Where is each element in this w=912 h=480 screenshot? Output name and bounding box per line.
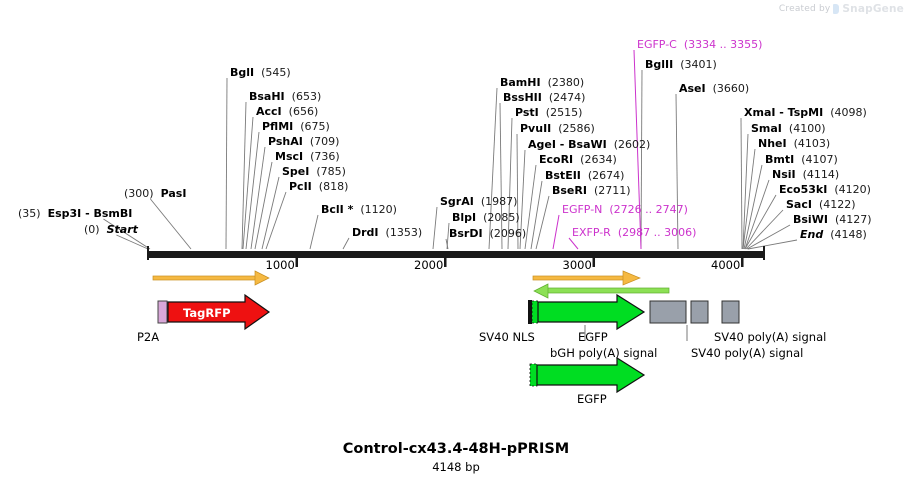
leader-line bbox=[525, 165, 536, 249]
enzyme-name: BmtI bbox=[765, 153, 794, 166]
restriction-site-label: AgeI - BsaWI (2602) bbox=[528, 138, 650, 151]
restriction-site-label: PflMI (675) bbox=[262, 120, 330, 133]
enzyme-name: Esp3I - BsmBI bbox=[48, 207, 133, 220]
site-position: (2474) bbox=[549, 91, 586, 104]
restriction-site-label: XmaI - TspMI (4098) bbox=[744, 106, 867, 119]
primer-range: (2987 .. 3006) bbox=[618, 226, 697, 239]
site-position: (2634) bbox=[580, 153, 617, 166]
enzyme-name: PvuII bbox=[520, 122, 551, 135]
ruler-label: 4000 bbox=[711, 258, 740, 272]
restriction-site-label: AccI (656) bbox=[256, 105, 318, 118]
enzyme-name: SmaI bbox=[751, 122, 782, 135]
site-position: (4148) bbox=[830, 228, 867, 241]
site-position: (656) bbox=[289, 105, 319, 118]
site-position: (2602) bbox=[614, 138, 651, 151]
site-position: (4098) bbox=[830, 106, 867, 119]
site-position: (3660) bbox=[713, 82, 750, 95]
feature-label: EGFP bbox=[578, 330, 608, 344]
restriction-site-label: BsiWI (4127) bbox=[793, 213, 872, 226]
enzyme-name: BamHI bbox=[500, 76, 541, 89]
restriction-site-label: BseRI (2711) bbox=[552, 184, 631, 197]
restriction-site-label: MscI (736) bbox=[275, 150, 340, 163]
restriction-site-label: NsiI (4114) bbox=[772, 168, 839, 181]
leader-line bbox=[150, 199, 191, 249]
enzyme-name: PasI bbox=[161, 187, 187, 200]
restriction-site-label: SmaI (4100) bbox=[751, 122, 825, 135]
enzyme-name: BglI bbox=[230, 66, 254, 79]
leader-lines bbox=[103, 50, 797, 249]
site-position: (2711) bbox=[594, 184, 631, 197]
leader-line bbox=[246, 132, 259, 249]
leader-line bbox=[741, 118, 742, 249]
restriction-site-label: BamHI (2380) bbox=[500, 76, 584, 89]
site-position: (2380) bbox=[548, 76, 585, 89]
restriction-site-label: SacI (4122) bbox=[786, 198, 856, 211]
enzyme-name: End bbox=[800, 228, 823, 241]
enzyme-name: BlpI bbox=[452, 211, 476, 224]
restriction-site-label: PvuII (2586) bbox=[520, 122, 595, 135]
enzyme-name: BsrDI bbox=[449, 227, 483, 240]
restriction-site-label: PcII (818) bbox=[289, 180, 348, 193]
enzyme-name: XmaI - TspMI bbox=[744, 106, 823, 119]
page-subtitle: 4148 bp bbox=[0, 460, 912, 474]
plasmid-map-canvas bbox=[0, 0, 912, 480]
enzyme-name: BsaHI bbox=[249, 90, 285, 103]
enzyme-name: NheI bbox=[758, 137, 787, 150]
restriction-site-label: DrdI (1353) bbox=[352, 226, 422, 239]
ruler-tick bbox=[296, 258, 299, 267]
enzyme-name: AccI bbox=[256, 105, 282, 118]
leader-line bbox=[433, 207, 437, 249]
leader-line bbox=[343, 238, 349, 249]
ruler-label: 2000 bbox=[414, 258, 443, 272]
site-position: (1987) bbox=[481, 195, 518, 208]
restriction-site-label: BmtI (4107) bbox=[765, 153, 838, 166]
enzyme-name: AseI bbox=[679, 82, 706, 95]
site-position: (4120) bbox=[834, 183, 871, 196]
restriction-site-label: AseI (3660) bbox=[679, 82, 749, 95]
enzyme-name: SacI bbox=[786, 198, 812, 211]
feature-sv40-nls bbox=[528, 300, 538, 324]
site-position: (1120) bbox=[360, 203, 397, 216]
site-position: (35) bbox=[18, 207, 41, 220]
restriction-site-label: BclI * (1120) bbox=[321, 203, 397, 216]
restriction-site-label: SgrAI (1987) bbox=[440, 195, 517, 208]
leader-line bbox=[569, 238, 578, 249]
leader-line bbox=[489, 88, 497, 249]
enzyme-name: SgrAI bbox=[440, 195, 474, 208]
primer-label: EGFP-C (3334 .. 3355) bbox=[637, 38, 762, 51]
feature-sv40-polya-2 bbox=[722, 301, 739, 323]
ruler-tick bbox=[741, 258, 744, 267]
primer-label: EGFP-N (2726 .. 2747) bbox=[562, 203, 688, 216]
site-position: (4100) bbox=[789, 122, 826, 135]
feature-label: bGH poly(A) signal bbox=[550, 346, 657, 360]
enzyme-name: BstEII bbox=[545, 169, 581, 182]
enzyme-name: BclI * bbox=[321, 203, 353, 216]
feature-label: P2A bbox=[137, 330, 159, 344]
restriction-site-label: (35) Esp3I - BsmBI bbox=[18, 207, 132, 220]
restriction-site-label: (0) Start bbox=[84, 223, 138, 236]
enzyme-name: PshAI bbox=[268, 135, 303, 148]
leader-line bbox=[641, 70, 642, 249]
restriction-site-label: (300) PasI bbox=[124, 187, 186, 200]
orf-arrow-egfp bbox=[533, 271, 640, 285]
restriction-site-label: NheI (4103) bbox=[758, 137, 830, 150]
feature-label: EGFP bbox=[577, 392, 607, 406]
restriction-site-label: SpeI (785) bbox=[282, 165, 346, 178]
restriction-site-label: BlpI (2085) bbox=[452, 211, 520, 224]
enzyme-name: BsiWI bbox=[793, 213, 828, 226]
site-position: (2085) bbox=[483, 211, 520, 224]
restriction-site-label: BsrDI (2096) bbox=[449, 227, 526, 240]
enzyme-name: NsiI bbox=[772, 168, 796, 181]
restriction-site-label: BssHII (2474) bbox=[503, 91, 585, 104]
ruler-tick bbox=[444, 258, 447, 267]
feature-label: SV40 poly(A) signal bbox=[714, 330, 826, 344]
site-position: (653) bbox=[292, 90, 322, 103]
restriction-site-label: BglII (3401) bbox=[645, 58, 717, 71]
restriction-site-label: PstI (2515) bbox=[515, 106, 582, 119]
orf-arrow-egfp-reverse bbox=[534, 284, 669, 298]
sequence-backbone bbox=[147, 246, 765, 260]
site-position: (2096) bbox=[490, 227, 527, 240]
restriction-site-label: PshAI (709) bbox=[268, 135, 339, 148]
orf-arrow-tagrfp bbox=[153, 271, 269, 285]
site-position: (2586) bbox=[558, 122, 595, 135]
feature-p2a bbox=[158, 301, 167, 323]
site-position: (785) bbox=[316, 165, 346, 178]
leader-line bbox=[226, 78, 227, 249]
primer-name: EGFP-C bbox=[637, 38, 677, 51]
site-position: (3401) bbox=[680, 58, 717, 71]
site-position: (0) bbox=[84, 223, 100, 236]
enzyme-name: BglII bbox=[645, 58, 673, 71]
page-title: Control-cx43.4-48H-pPRISM bbox=[0, 441, 912, 457]
site-position: (675) bbox=[300, 120, 330, 133]
site-position: (4127) bbox=[835, 213, 872, 226]
ruler-tick bbox=[593, 258, 596, 267]
enzyme-name: BssHII bbox=[503, 91, 542, 104]
leader-line bbox=[255, 162, 272, 249]
site-position: (2515) bbox=[546, 106, 583, 119]
restriction-site-label: BglI (545) bbox=[230, 66, 291, 79]
ruler-label: 1000 bbox=[266, 258, 295, 272]
site-position: (4122) bbox=[819, 198, 856, 211]
enzyme-name: PflMI bbox=[262, 120, 293, 133]
enzyme-name: Eco53kI bbox=[779, 183, 827, 196]
leader-line bbox=[262, 177, 279, 249]
restriction-site-label: BstEII (2674) bbox=[545, 169, 624, 182]
enzyme-name: PcII bbox=[289, 180, 312, 193]
feature-sv40-polya-1 bbox=[691, 301, 708, 323]
leader-line bbox=[242, 102, 246, 249]
ruler-tick-marks bbox=[296, 258, 744, 267]
enzyme-name: PstI bbox=[515, 106, 539, 119]
enzyme-name: SpeI bbox=[282, 165, 309, 178]
enzyme-name: DrdI bbox=[352, 226, 379, 239]
feature-label: SV40 poly(A) signal bbox=[691, 346, 803, 360]
site-position: (818) bbox=[319, 180, 349, 193]
tagrfp-arrow-text: TagRFP bbox=[183, 306, 231, 320]
site-position: (2674) bbox=[588, 169, 625, 182]
site-position: (4103) bbox=[794, 137, 831, 150]
enzyme-name: MscI bbox=[275, 150, 303, 163]
feature-egfp-primary bbox=[538, 295, 644, 329]
feature-egfp-secondary bbox=[530, 358, 644, 392]
site-position: (4107) bbox=[801, 153, 838, 166]
restriction-site-label: End (4148) bbox=[800, 228, 867, 241]
restriction-site-label: EcoRI (2634) bbox=[539, 153, 617, 166]
enzyme-name: EcoRI bbox=[539, 153, 573, 166]
site-position: (4114) bbox=[803, 168, 840, 181]
primer-range: (3334 .. 3355) bbox=[684, 38, 763, 51]
feature-bgh-polya bbox=[650, 301, 686, 323]
enzyme-name: Start bbox=[107, 223, 138, 236]
primer-name: EGFP-N bbox=[562, 203, 602, 216]
restriction-site-label: BsaHI (653) bbox=[249, 90, 321, 103]
site-position: (300) bbox=[124, 187, 154, 200]
leader-line bbox=[310, 215, 318, 249]
ruler-label: 3000 bbox=[563, 258, 592, 272]
site-position: (736) bbox=[310, 150, 340, 163]
enzyme-name: BseRI bbox=[552, 184, 587, 197]
restriction-site-label: Eco53kI (4120) bbox=[779, 183, 871, 196]
site-position: (709) bbox=[310, 135, 340, 148]
site-position: (545) bbox=[261, 66, 291, 79]
primer-name: EXFP-R bbox=[572, 226, 611, 239]
site-position: (1353) bbox=[386, 226, 423, 239]
leader-line bbox=[553, 215, 559, 249]
primer-range: (2726 .. 2747) bbox=[609, 203, 688, 216]
enzyme-name: AgeI - BsaWI bbox=[528, 138, 607, 151]
feature-label: SV40 NLS bbox=[479, 330, 535, 344]
primer-label: EXFP-R (2987 .. 3006) bbox=[572, 226, 696, 239]
